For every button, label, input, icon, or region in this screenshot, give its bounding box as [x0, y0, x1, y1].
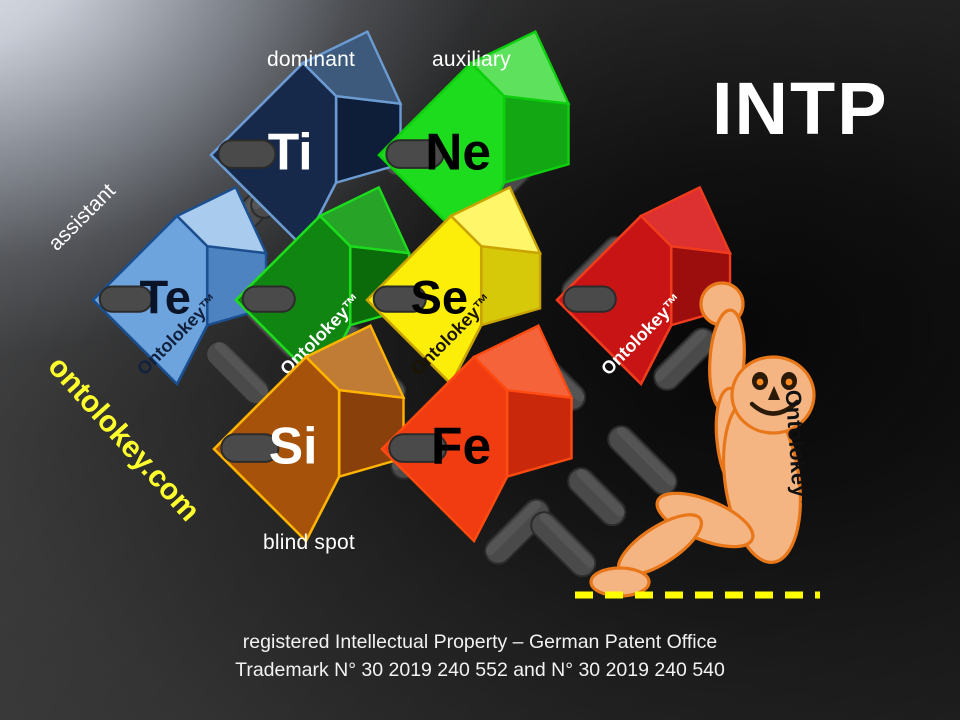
connector-peg	[526, 507, 601, 582]
page-title: INTP	[712, 72, 889, 146]
connector-peg	[563, 463, 631, 531]
cube-face-right	[481, 246, 540, 325]
slide-canvas: TiNeTeOntolokey™Ontolokey™SeOntolokey™On…	[0, 0, 960, 720]
cube-face-right	[507, 390, 571, 476]
cube-label: Ne	[425, 123, 491, 181]
cube-label: Si	[269, 417, 318, 475]
cube-label: Fe	[431, 417, 491, 475]
cube-label: Ti	[268, 123, 313, 181]
label-dominant: dominant	[267, 48, 355, 72]
connector-peg	[603, 421, 682, 500]
footer-line-1: registered Intellectual Property – Germa…	[0, 628, 960, 656]
cube-te: TeOntolokey™	[93, 187, 266, 384]
label-blind-spot: blind spot	[263, 531, 355, 555]
cube-face-right	[504, 96, 568, 182]
footer-line-2: Trademark N° 30 2019 240 552 and N° 30 2…	[0, 656, 960, 684]
cube-socket	[564, 287, 616, 312]
cube-socket	[243, 287, 295, 312]
footer-legal: registered Intellectual Property – Germa…	[0, 628, 960, 685]
label-auxiliary: auxiliary	[432, 48, 511, 72]
